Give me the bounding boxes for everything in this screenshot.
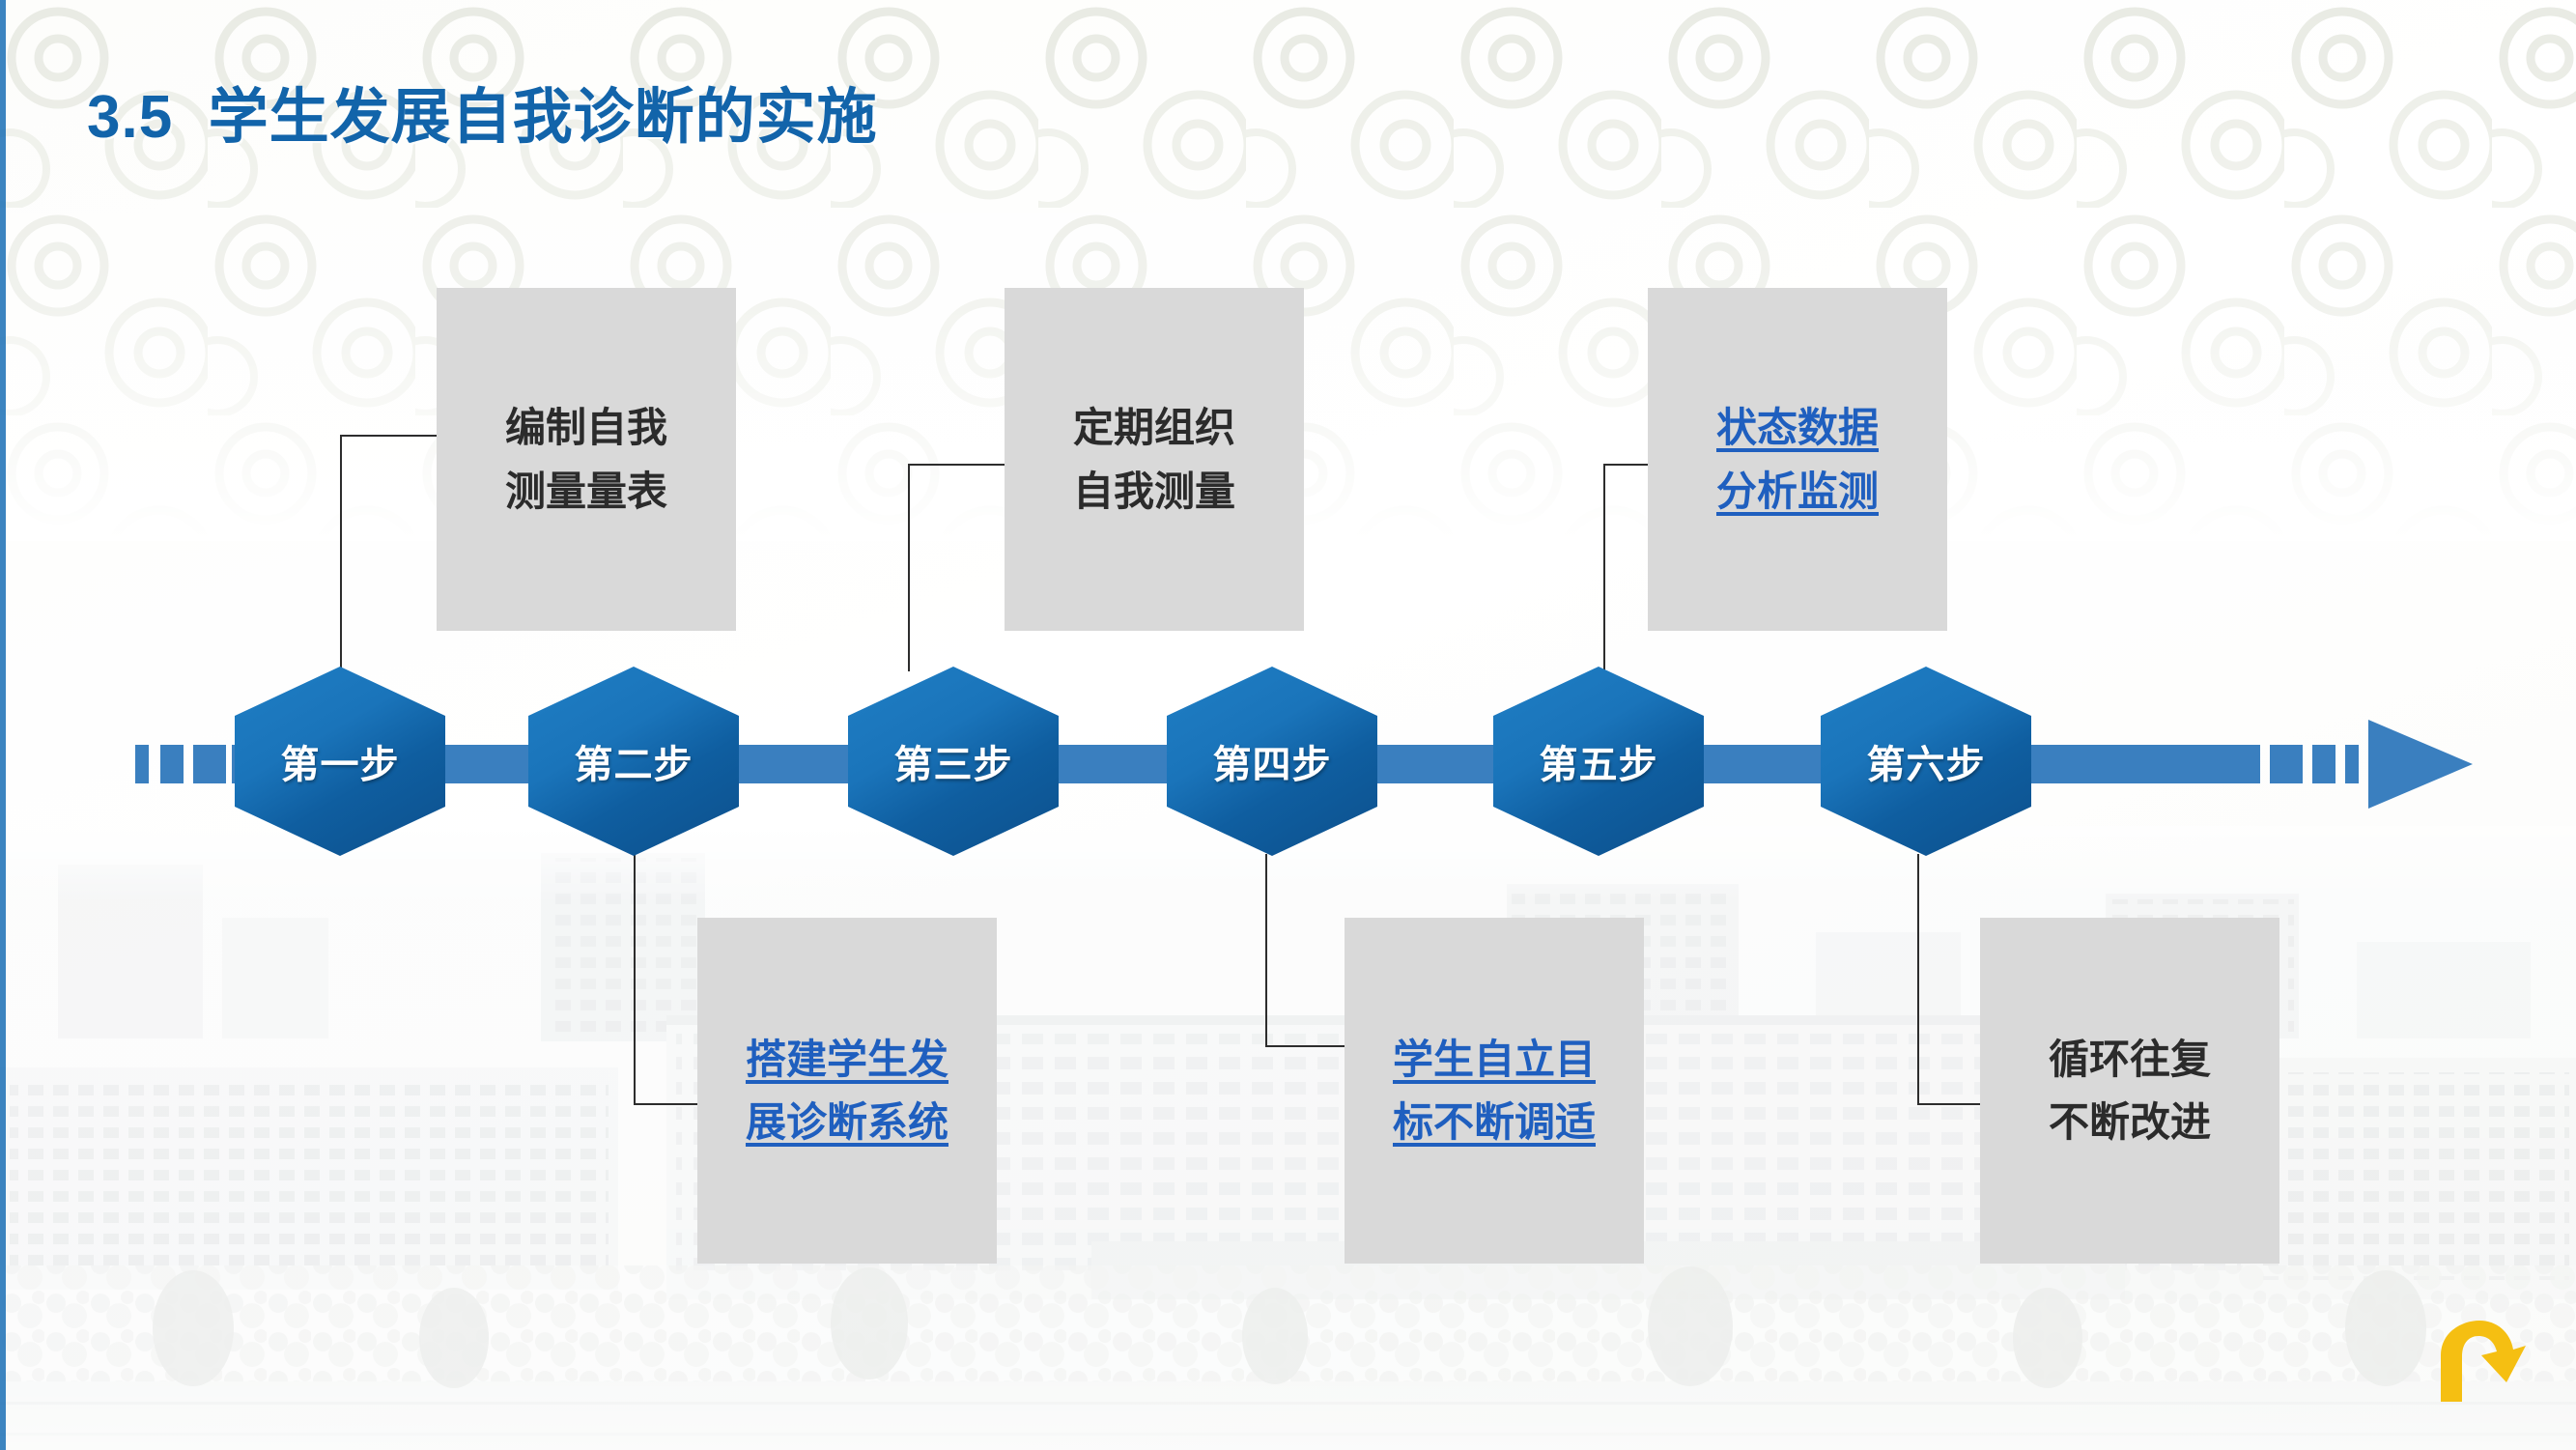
timeline-step-2[interactable]: 第二步 bbox=[528, 667, 739, 856]
timeline-step-3[interactable]: 第三步 bbox=[848, 667, 1059, 856]
callout-box-5[interactable]: 学生自立目 标不断调适 bbox=[1345, 918, 1644, 1264]
timeline-step-6[interactable]: 第六步 bbox=[1821, 667, 2031, 856]
curved-arrow-logo-icon bbox=[2423, 1313, 2530, 1409]
callout-link-line[interactable]: 状态数据 bbox=[1716, 396, 1879, 459]
slide-canvas: 3.5 学生发展自我诊断的实施 bbox=[0, 0, 2576, 1450]
left-edge-accent-bar bbox=[0, 0, 6, 1450]
connector-step-1 bbox=[340, 435, 446, 671]
connector-step-3 bbox=[908, 464, 1012, 671]
timeline-step-label: 第二步 bbox=[575, 733, 694, 789]
timeline-step-label: 第三步 bbox=[894, 733, 1013, 789]
callout-link-line[interactable]: 展诊断系统 bbox=[746, 1091, 948, 1153]
callout-line: 循环往复 bbox=[2049, 1028, 2211, 1091]
callout-link-line[interactable]: 分析监测 bbox=[1716, 460, 1879, 523]
connector-step-4 bbox=[1265, 854, 1352, 1047]
callout-link-line[interactable]: 标不断调适 bbox=[1393, 1091, 1596, 1153]
page-title: 3.5 学生发展自我诊断的实施 bbox=[87, 68, 878, 155]
timeline-step-label: 第六步 bbox=[1867, 733, 1986, 789]
timeline-step-5[interactable]: 第五步 bbox=[1493, 667, 1704, 856]
callout-line: 编制自我 bbox=[505, 396, 667, 459]
timeline-step-label: 第一步 bbox=[281, 733, 400, 789]
timeline-step-1[interactable]: 第一步 bbox=[235, 667, 445, 856]
callout-line: 测量量表 bbox=[505, 460, 667, 523]
callout-box-4[interactable]: 搭建学生发 展诊断系统 bbox=[697, 918, 997, 1264]
callout-box-6[interactable]: 循环往复 不断改进 bbox=[1980, 918, 2279, 1264]
callout-line: 不断改进 bbox=[2049, 1091, 2211, 1153]
callout-box-2[interactable]: 定期组织 自我测量 bbox=[1005, 288, 1304, 631]
callout-line: 自我测量 bbox=[1073, 460, 1235, 523]
timeline-step-label: 第五步 bbox=[1540, 733, 1658, 789]
timeline-step-label: 第四步 bbox=[1213, 733, 1332, 789]
timeline-step-4[interactable]: 第四步 bbox=[1167, 667, 1377, 856]
callout-link-line[interactable]: 搭建学生发 bbox=[746, 1028, 948, 1091]
callout-line: 定期组织 bbox=[1073, 396, 1235, 459]
connector-step-2 bbox=[634, 854, 707, 1105]
callout-box-1[interactable]: 编制自我 测量量表 bbox=[437, 288, 736, 631]
callout-box-3[interactable]: 状态数据 分析监测 bbox=[1648, 288, 1947, 631]
callout-link-line[interactable]: 学生自立目 bbox=[1393, 1028, 1596, 1091]
